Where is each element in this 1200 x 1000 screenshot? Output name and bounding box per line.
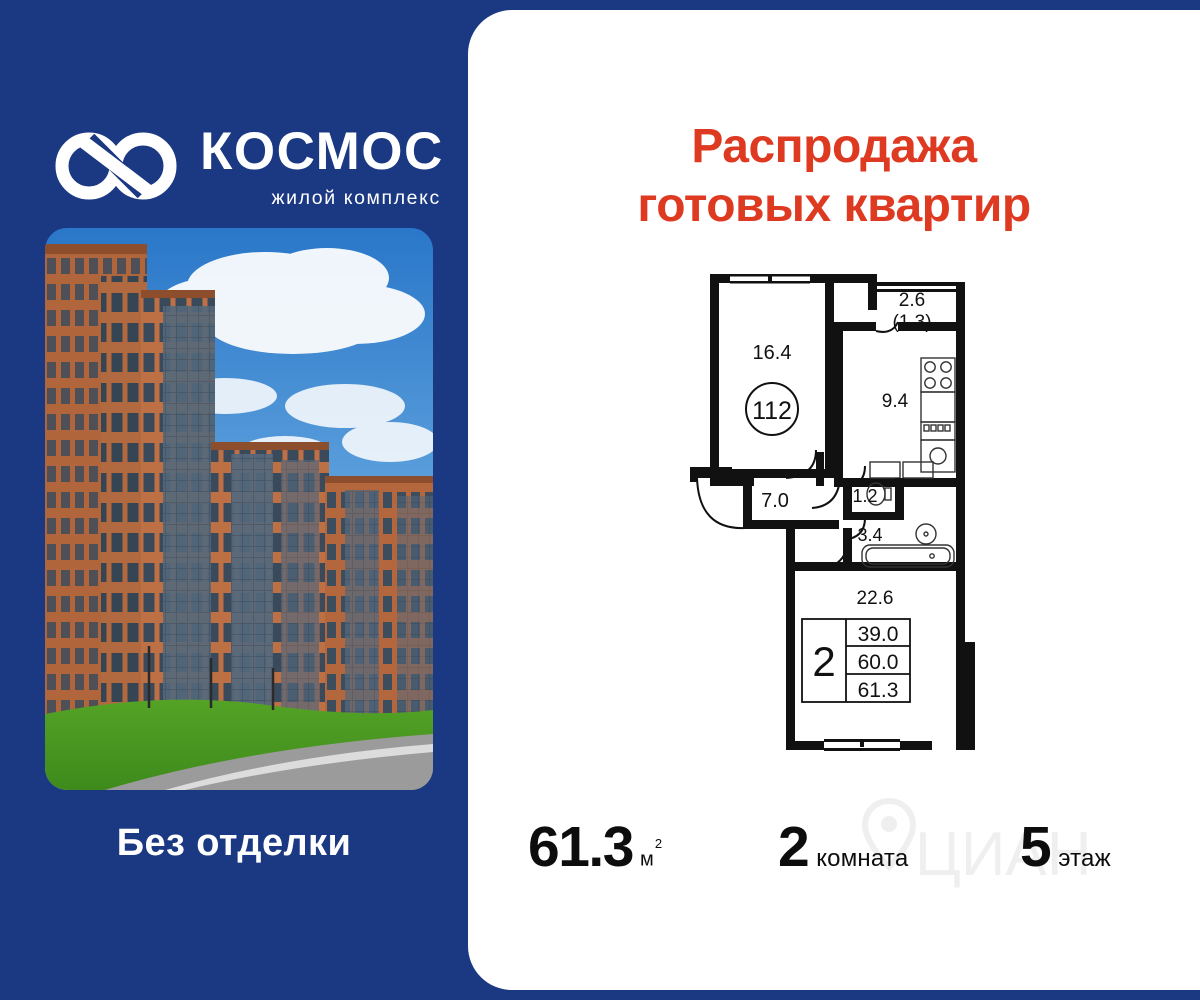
apartment-number-badge: 112 [746, 383, 798, 435]
summary-floor-value: 5 [1020, 814, 1050, 880]
room-area-balcony-reduced: (1.3) [892, 312, 931, 333]
brand-logo: КОСМОС жилой комплекс [52, 118, 442, 214]
floor-plan: 16.4 2.6 (1.3) 9.4 7.0 1.2 3.4 22.6 112 [690, 262, 990, 782]
summary-area-value: 61.3 [528, 814, 633, 880]
finish-label: Без отделки [0, 822, 468, 865]
brand-text: КОСМОС жилой комплекс [200, 123, 444, 210]
room-area-living: 16.4 [753, 342, 792, 364]
info-living-area: 39.0 [858, 623, 899, 646]
summary-floor: 5 этаж [1020, 814, 1111, 880]
apartment-number: 112 [752, 397, 792, 425]
page-title: Распродажа готовых квартир [468, 118, 1200, 235]
summary-area: 61.3 м2 [528, 814, 661, 880]
room-area-bedroom: 22.6 [857, 588, 894, 609]
brand-name: КОСМОС [200, 125, 444, 178]
promo-card: КОСМОС жилой комплекс [0, 0, 1200, 1000]
summary-rooms: 2 комната [778, 814, 908, 880]
room-area-bathroom: 3.4 [857, 525, 882, 545]
info-total-area: 60.0 [858, 651, 899, 674]
summary-area-unit: м2 [640, 846, 661, 872]
room-area-balcony: 2.6 [899, 290, 925, 311]
info-rooms-count: 2 [812, 638, 835, 685]
headline-line-2: готовых квартир [468, 177, 1200, 236]
info-total-area-with-balcony: 61.3 [858, 679, 899, 702]
infinity-icon [52, 128, 180, 204]
summary-floor-unit: этаж [1058, 845, 1111, 873]
room-area-kitchen: 9.4 [882, 391, 909, 412]
brand-subtitle: жилой комплекс [200, 187, 444, 210]
summary-row: 61.3 м2 2 комната 5 этаж [500, 812, 1180, 884]
plan-info-box: 2 39.0 60.0 61.3 [802, 619, 910, 702]
room-area-hall: 7.0 [761, 490, 789, 512]
room-area-wc: 1.2 [852, 486, 877, 506]
summary-rooms-unit: комната [816, 845, 908, 873]
summary-rooms-value: 2 [778, 814, 808, 880]
headline-line-1: Распродажа [468, 118, 1200, 177]
building-photo [45, 228, 433, 790]
